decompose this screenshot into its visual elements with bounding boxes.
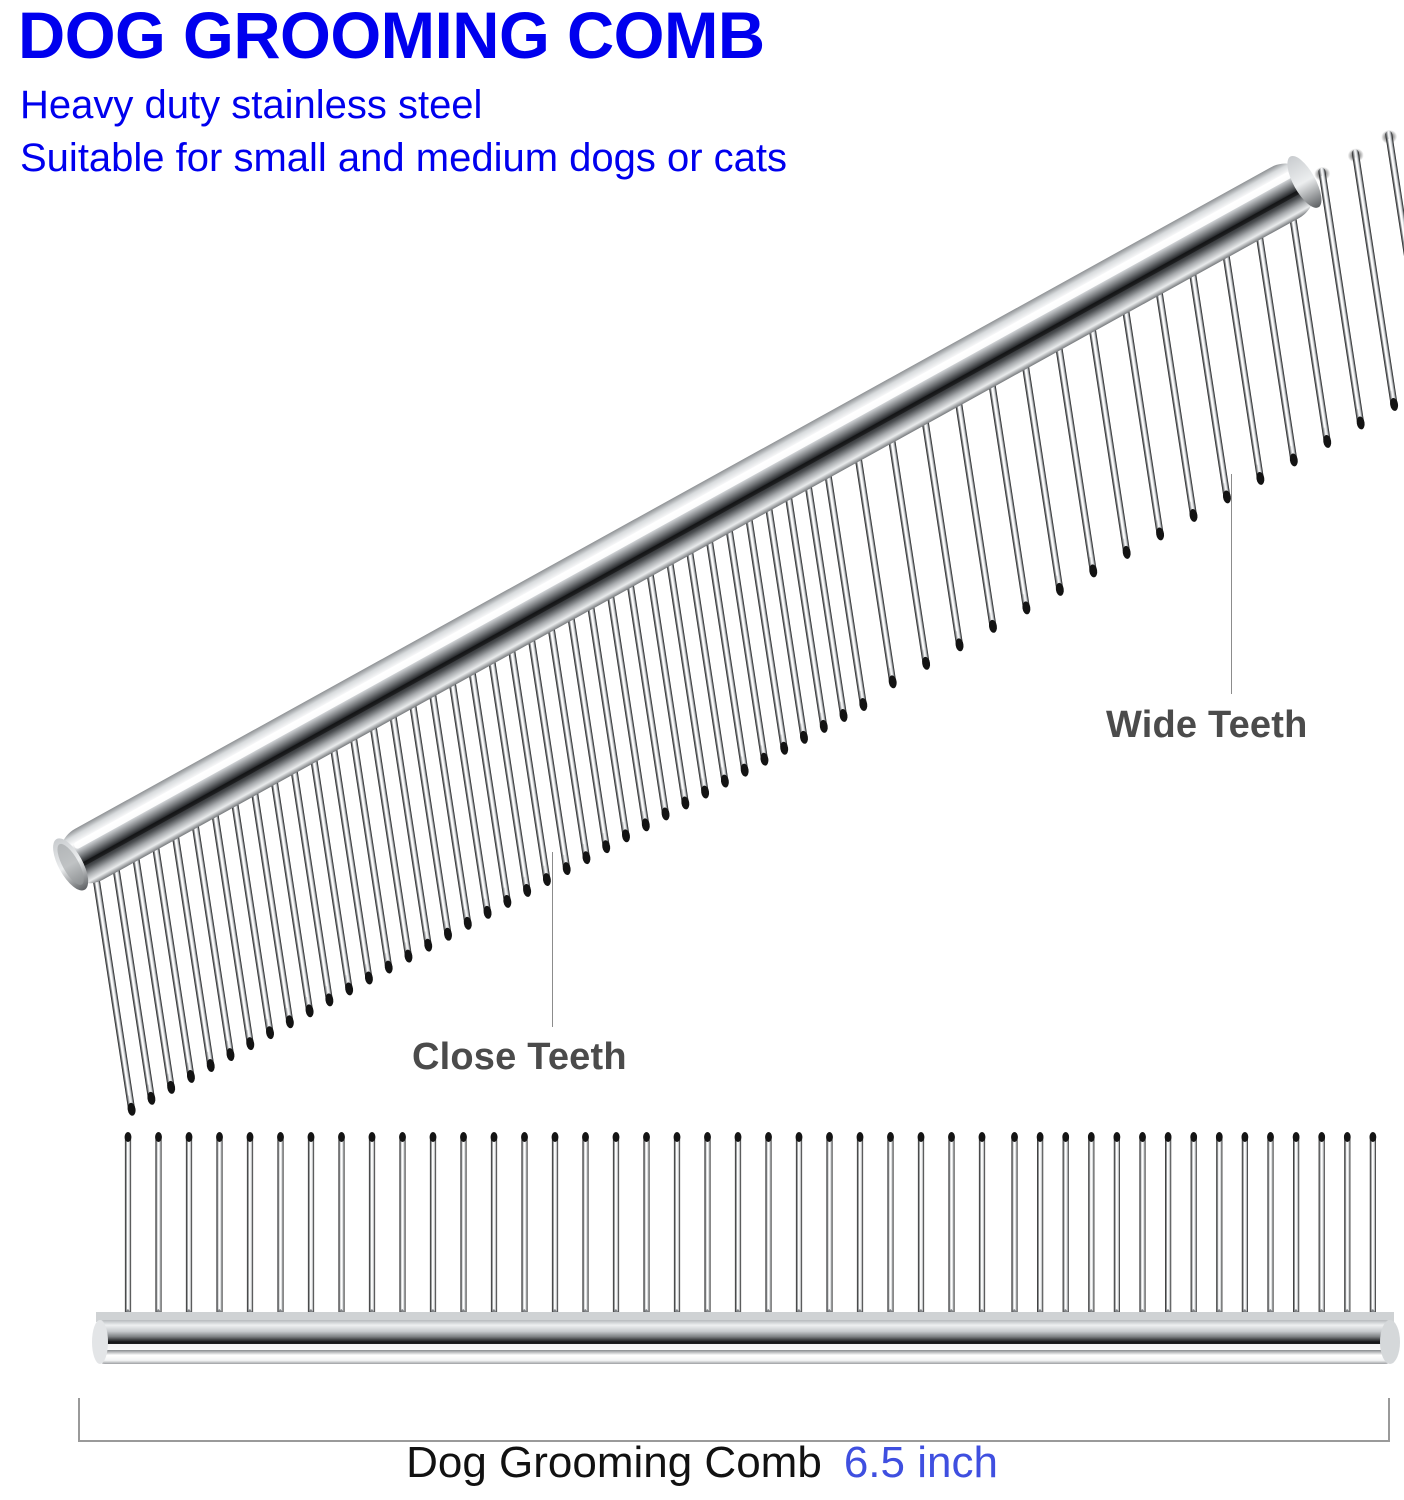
side-comb-teeth-group bbox=[121, 1132, 1380, 1318]
side-comb-tooth bbox=[1110, 1132, 1124, 1318]
subtitle-line-1: Heavy duty stainless steel bbox=[18, 79, 1388, 132]
dimension-bracket bbox=[78, 1398, 1390, 1442]
side-comb-tooth bbox=[914, 1132, 928, 1318]
comb-tooth bbox=[598, 562, 655, 833]
side-comb-tooth bbox=[1187, 1132, 1201, 1318]
side-comb-tooth bbox=[243, 1132, 257, 1318]
comb-tooth bbox=[716, 496, 773, 767]
comb-tooth bbox=[123, 824, 180, 1095]
side-comb-tooth bbox=[731, 1132, 745, 1318]
side-comb-tooth bbox=[1033, 1132, 1047, 1318]
comb-tooth bbox=[617, 551, 674, 822]
side-comb-tooth bbox=[518, 1132, 532, 1318]
comb-tooth bbox=[1213, 221, 1269, 486]
side-comb-tooth bbox=[853, 1132, 867, 1318]
side-comb-tooth bbox=[975, 1132, 989, 1318]
comb-tooth bbox=[775, 463, 832, 734]
infographic-canvas: DOG GROOMING COMB Heavy duty stainless s… bbox=[0, 0, 1404, 1500]
side-comb-tooth bbox=[884, 1132, 898, 1318]
comb-tooth bbox=[420, 660, 477, 931]
caption-size-value: 6.5 inch bbox=[844, 1438, 998, 1487]
dimension-caption: Dog Grooming Comb6.5 inch bbox=[0, 1438, 1404, 1488]
comb-tooth bbox=[1180, 240, 1236, 505]
comb-tooth bbox=[459, 638, 516, 909]
side-comb-tooth bbox=[426, 1132, 440, 1318]
comb-tooth bbox=[1347, 147, 1403, 412]
side-comb-tooth bbox=[274, 1132, 288, 1318]
comb-tooth bbox=[301, 726, 358, 997]
comb-tooth bbox=[1079, 295, 1135, 560]
side-comb-tooth bbox=[548, 1132, 562, 1318]
comb-tooth bbox=[340, 704, 397, 975]
comb-tooth bbox=[202, 780, 259, 1051]
comb-tooth bbox=[538, 595, 595, 866]
comb-tooth bbox=[1113, 277, 1169, 542]
side-comb-tooth bbox=[396, 1132, 410, 1318]
side-comb-tooth bbox=[792, 1132, 806, 1318]
side-comb-tooth bbox=[1264, 1132, 1278, 1318]
comb-tooth bbox=[979, 351, 1035, 616]
comb-tooth bbox=[637, 540, 694, 811]
comb-tooth bbox=[83, 846, 140, 1117]
comb-tooth bbox=[103, 835, 160, 1106]
side-comb-tooth bbox=[762, 1132, 776, 1318]
wide-teeth-leader-line bbox=[1231, 474, 1232, 694]
side-comb-tooth bbox=[1315, 1132, 1329, 1318]
side-comb-tooth bbox=[945, 1132, 959, 1318]
side-comb-tooth bbox=[121, 1132, 135, 1318]
comb-tooth bbox=[736, 485, 793, 756]
comb-tooth bbox=[1313, 166, 1369, 431]
side-comb-tooth bbox=[579, 1132, 593, 1318]
comb-tooth bbox=[815, 441, 872, 712]
comb-tooth bbox=[946, 369, 1002, 634]
close-teeth-label: Close Teeth bbox=[412, 1036, 627, 1079]
comb-tooth bbox=[756, 474, 813, 745]
page-title: DOG GROOMING COMB bbox=[18, 2, 1374, 69]
comb-tooth bbox=[242, 759, 299, 1030]
side-comb-tooth bbox=[640, 1132, 654, 1318]
comb-tooth bbox=[1146, 258, 1202, 523]
side-comb-tooth bbox=[365, 1132, 379, 1318]
close-teeth-leader-line bbox=[552, 852, 553, 1027]
side-comb-tooth bbox=[1340, 1132, 1354, 1318]
comb-tooth bbox=[558, 584, 615, 855]
caption-product-name: Dog Grooming Comb bbox=[406, 1438, 822, 1487]
comb-tooth bbox=[439, 649, 496, 920]
comb-tooth bbox=[1246, 203, 1302, 468]
comb-tooth bbox=[696, 507, 753, 778]
comb-tooth bbox=[261, 748, 318, 1019]
comb-tooth bbox=[400, 671, 457, 942]
side-comb-tooth bbox=[1161, 1132, 1175, 1318]
side-comb-tooth bbox=[1084, 1132, 1098, 1318]
comb-tooth bbox=[1280, 184, 1336, 449]
comb-tooth bbox=[360, 693, 417, 964]
side-profile-comb-illustration bbox=[0, 0, 1404, 1500]
comb-tooth bbox=[162, 802, 219, 1073]
side-comb-tooth bbox=[335, 1132, 349, 1318]
side-comb-tooth bbox=[1238, 1132, 1252, 1318]
comb-tooth bbox=[879, 406, 935, 671]
side-comb-tooth bbox=[1289, 1132, 1303, 1318]
comb-tooth bbox=[657, 529, 714, 800]
side-comb-tooth bbox=[182, 1132, 196, 1318]
comb-tooth bbox=[518, 605, 575, 876]
side-comb-tooth bbox=[609, 1132, 623, 1318]
comb-tooth bbox=[380, 682, 437, 953]
comb-tooth bbox=[912, 388, 968, 653]
comb-tooth bbox=[321, 715, 378, 986]
side-comb-tooth bbox=[213, 1132, 227, 1318]
side-comb-tooth bbox=[457, 1132, 471, 1318]
side-comb-tooth bbox=[1059, 1132, 1073, 1318]
comb-tooth bbox=[795, 452, 852, 723]
header-text-block: DOG GROOMING COMB Heavy duty stainless s… bbox=[18, 2, 1388, 185]
side-comb-tooth bbox=[1008, 1132, 1022, 1318]
side-comb-tooth bbox=[670, 1132, 684, 1318]
side-comb-tooth bbox=[823, 1132, 837, 1318]
comb-tooth bbox=[1012, 332, 1068, 597]
wide-teeth-label: Wide Teeth bbox=[1106, 704, 1308, 747]
side-comb-tooth bbox=[701, 1132, 715, 1318]
comb-tooth bbox=[845, 425, 901, 690]
comb-tooth bbox=[677, 518, 734, 789]
comb-handle-bar bbox=[46, 151, 1328, 895]
comb-teeth-group bbox=[1, 31, 1404, 1121]
side-comb-tooth bbox=[152, 1132, 166, 1318]
comb-tooth bbox=[182, 791, 239, 1062]
comb-tooth bbox=[222, 770, 279, 1041]
comb-tooth bbox=[578, 573, 635, 844]
comb-tooth bbox=[281, 737, 338, 1008]
comb-tooth bbox=[479, 627, 536, 898]
subtitle-line-2: Suitable for small and medium dogs or ca… bbox=[18, 132, 1388, 185]
side-comb-tooth bbox=[304, 1132, 318, 1318]
comb-tooth bbox=[143, 813, 200, 1084]
comb-tooth bbox=[499, 616, 556, 887]
side-comb-bar bbox=[92, 1312, 1400, 1364]
side-comb-tooth bbox=[487, 1132, 501, 1318]
side-comb-tooth bbox=[1212, 1132, 1226, 1318]
side-comb-tooth bbox=[1366, 1132, 1380, 1318]
comb-tooth bbox=[1046, 314, 1102, 579]
angled-comb-illustration bbox=[0, 0, 1404, 1500]
side-comb-tooth bbox=[1136, 1132, 1150, 1318]
